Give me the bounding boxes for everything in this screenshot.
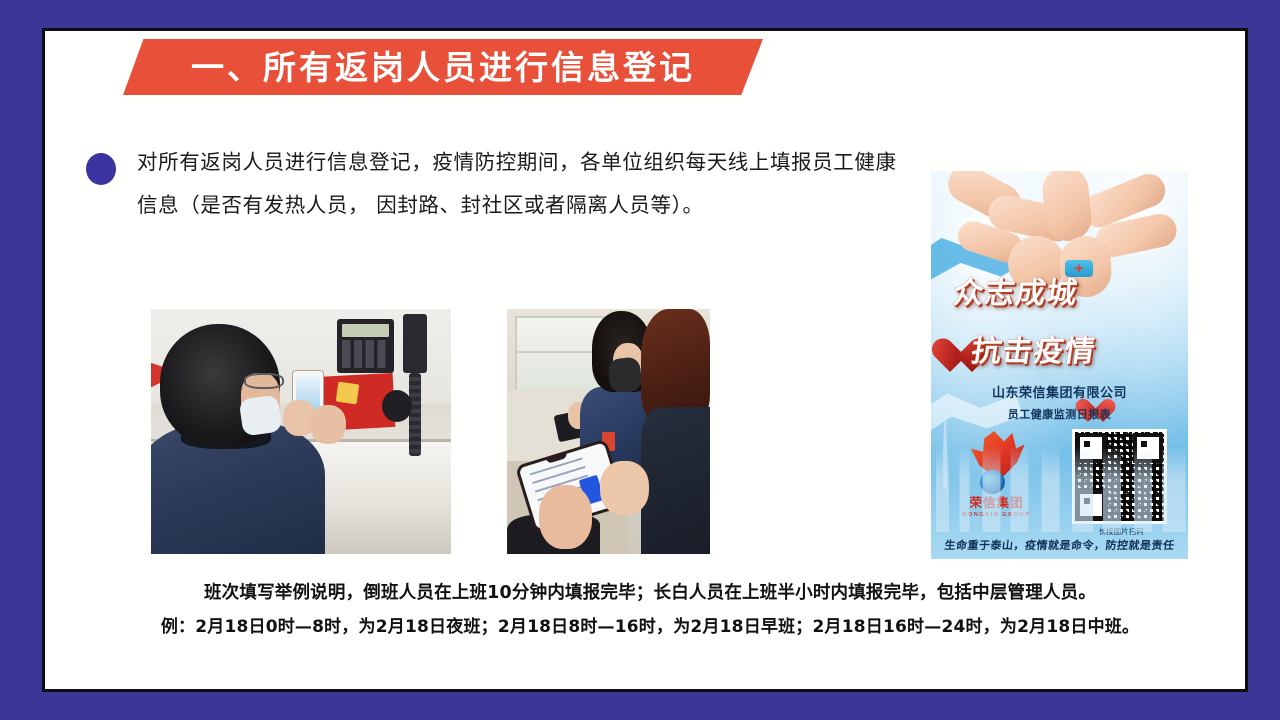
footer-notes: 班次填写举例说明，倒班人员在上班10分钟内填报完毕；长白人员在上班半小时内填报完…	[105, 576, 1195, 644]
footer-line-1: 班次填写举例说明，倒班人员在上班10分钟内填报完毕；长白人员在上班半小时内填报完…	[105, 576, 1195, 610]
photo1-calculator-keys	[342, 340, 390, 368]
photo-employee-phone-desk	[151, 309, 451, 554]
footer-line-2: 例：2月18日0时—8时，为2月18日夜班；2月18日8时—16时，为2月18日…	[105, 610, 1195, 644]
photo1-mouse	[382, 390, 412, 422]
photo1-right-hand	[310, 405, 346, 444]
photo1-radio-cord	[409, 373, 421, 456]
page-title: 一、所有返岗人员进行信息登记	[191, 51, 695, 84]
photo2-window-bar	[515, 351, 600, 353]
photo2-window	[515, 316, 604, 394]
health-report-poster: 众志成城 抗击疫情 山东荣信集团有限公司 员工健康监测日报表 荣信集团 RONG…	[931, 171, 1188, 559]
photo-employees-reporting	[507, 309, 710, 554]
poster-calligraphy-slogan: 生命重于泰山，疫情就是命令，防控就是责任	[931, 537, 1188, 553]
body-paragraph: 对所有返岗人员进行信息登记，疫情防控期间，各单位组织每天线上填报员工健康信息（是…	[137, 141, 902, 227]
photo2-tapping-hand	[600, 461, 649, 515]
content-panel: 一、所有返岗人员进行信息登记 对所有返岗人员进行信息登记，疫情防控期间，各单位组…	[42, 28, 1248, 692]
photo1-radio-handset	[403, 314, 427, 373]
photo2-worker-mask	[607, 356, 643, 394]
photo2-holding-hand	[539, 485, 592, 549]
poster-headline-line2: 抗击疫情	[969, 326, 1099, 370]
poster-form-subtitle: 员工健康监测日报表	[931, 406, 1188, 422]
bullet-point-icon	[86, 153, 116, 185]
poster-city-skyline	[931, 446, 1188, 531]
photo1-flag-emblem	[336, 381, 360, 403]
poster-headline-line1: 众志成城	[951, 268, 1081, 312]
section-title-banner: 一、所有返岗人员进行信息登记	[123, 39, 763, 95]
photo1-calculator	[337, 319, 394, 373]
photo1-calculator-screen	[342, 324, 390, 337]
photo2-second-person-jacket	[641, 407, 710, 554]
slide-root: 一、所有返岗人员进行信息登记 对所有返岗人员进行信息登记，疫情防控期间，各单位组…	[0, 0, 1280, 720]
poster-company-name: 山东荣信集团有限公司	[931, 382, 1188, 401]
photo1-person-mask	[239, 395, 283, 437]
photo1-person-glasses	[244, 373, 284, 389]
